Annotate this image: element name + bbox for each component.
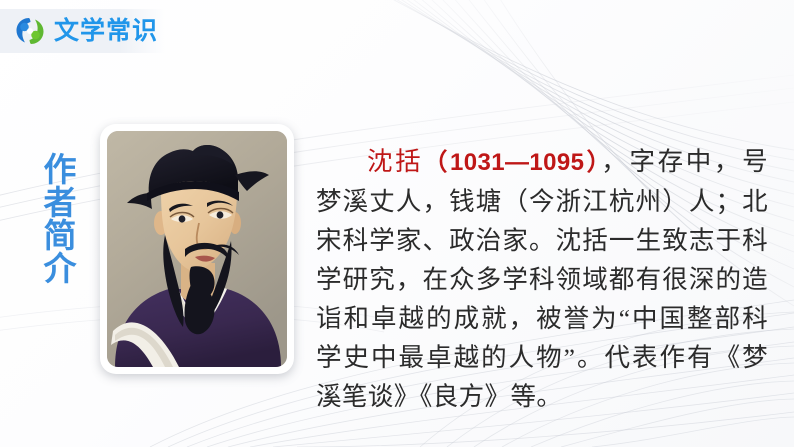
slide-canvas: 文学常识 作者简介	[0, 0, 794, 447]
author-biography-paragraph: 沈括（1031—1095），字存中，号梦溪丈人，钱塘（今浙江杭州）人；北宋科学家…	[316, 142, 768, 416]
header-banner: 文学常识	[0, 9, 166, 53]
author-name-highlight: 沈括	[367, 147, 423, 176]
portrait-image	[107, 131, 287, 367]
header-title: 文学常识	[54, 19, 158, 44]
author-dates-highlight: （1031—1095）	[423, 149, 601, 176]
portrait-card	[100, 124, 294, 374]
biography-text: ，字存中，号梦溪丈人，钱塘（今浙江杭州）人；北宋科学家、政治家。沈括一生致志于科…	[316, 147, 768, 411]
shen-kuo-portrait-illustration	[107, 131, 287, 367]
section-vertical-label: 作者简介	[36, 152, 76, 284]
people-swirl-logo-icon	[14, 15, 46, 47]
